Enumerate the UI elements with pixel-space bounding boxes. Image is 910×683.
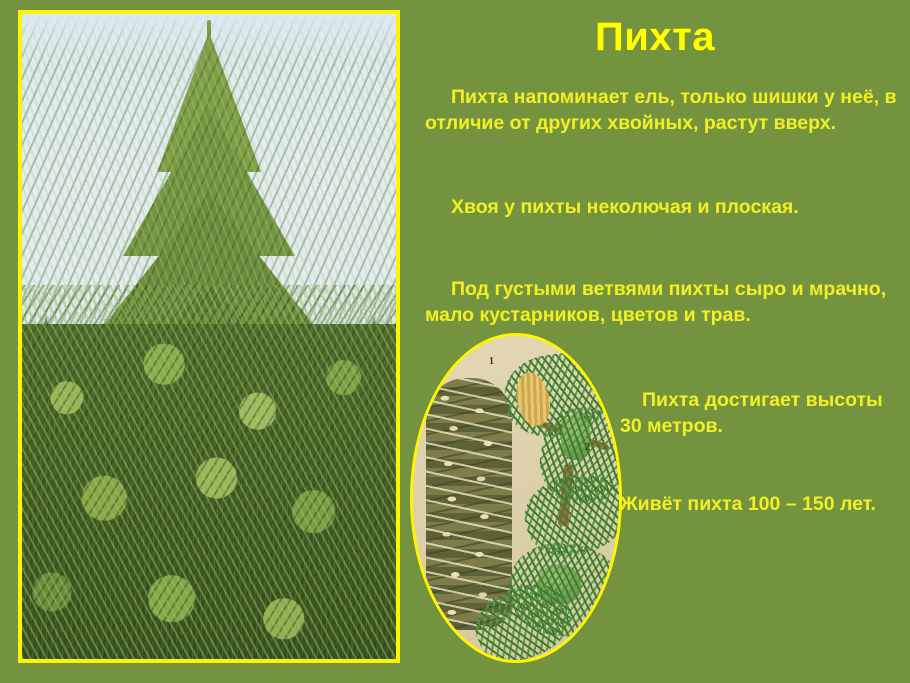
paragraph-lifespan: Живёт пихта 100 – 150 лет. [620, 492, 905, 518]
fir-cone-illustration [426, 378, 512, 630]
fir-tree-photograph [18, 10, 400, 663]
paragraph-intro: Пихта напоминает ель, только шишки у неё… [425, 85, 903, 137]
paragraph-undergrowth: Под густыми ветвями пихты сыро и мрачно,… [425, 277, 903, 329]
paragraph-height: Пихта достигает высоты 30 метров. [620, 388, 905, 440]
paragraph-needles: Хвоя у пихты неколючая и плоская. [425, 195, 903, 221]
fir-botanical-illustration: 1 2 [410, 333, 622, 663]
figure-label-1: 1 [489, 356, 494, 367]
page-title: Пихта [410, 16, 900, 58]
figure-label-2: 2 [585, 442, 590, 453]
cone-scales [426, 378, 512, 630]
slide: Пихта Пихта напоминает ель, только шишки… [0, 0, 910, 683]
foliage-needle-texture [22, 285, 396, 659]
